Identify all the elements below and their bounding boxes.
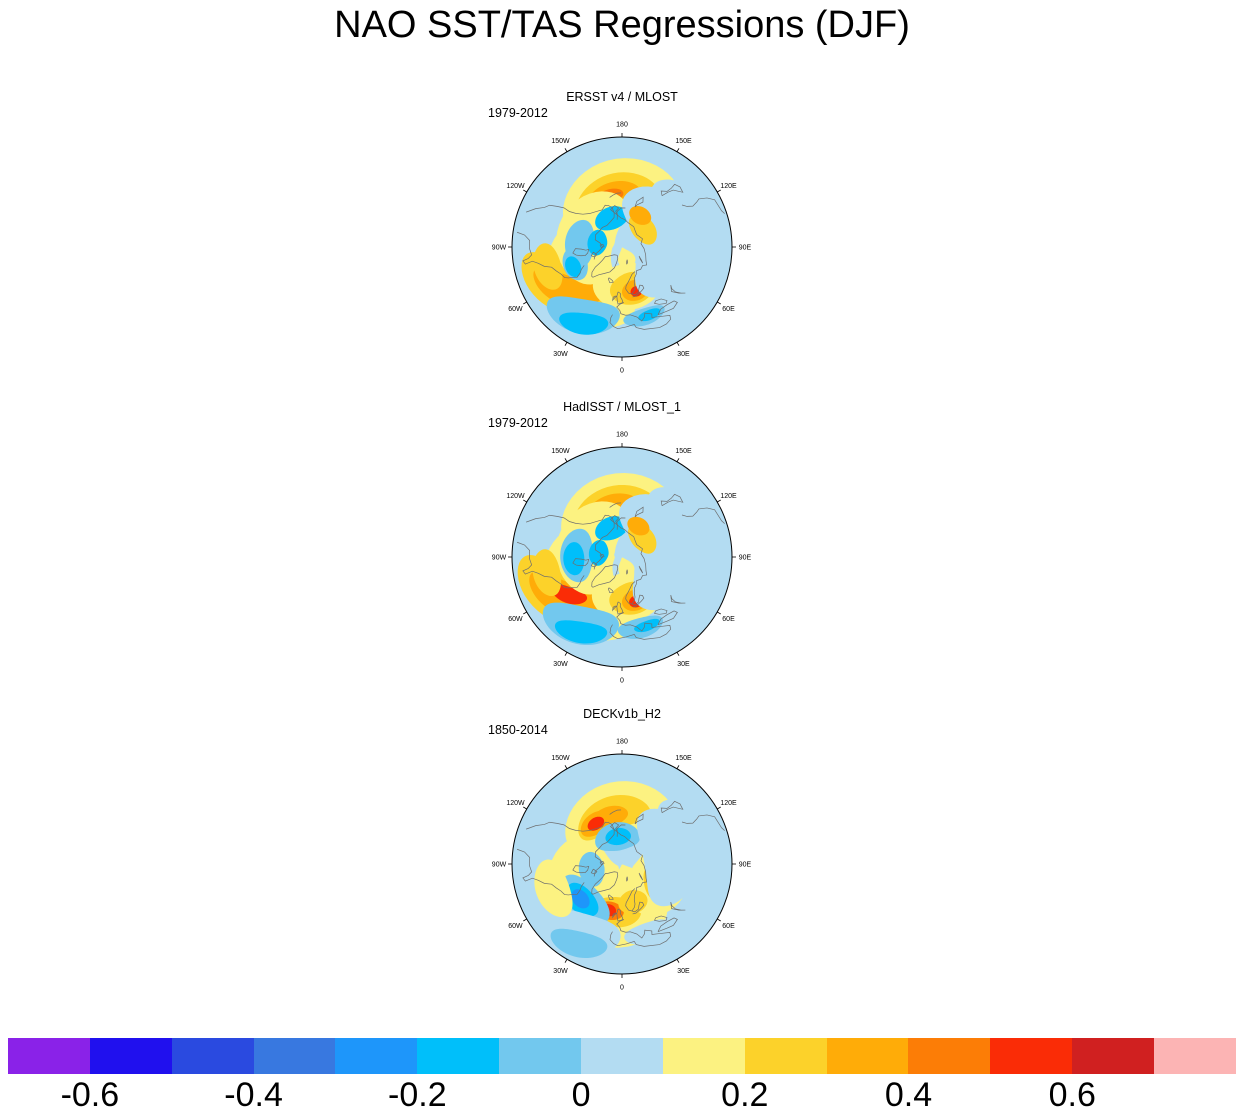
meridian-label: 30W xyxy=(553,968,568,975)
meridian-tick xyxy=(565,342,567,345)
meridian-tick xyxy=(677,458,679,461)
meridian-tick xyxy=(717,302,720,304)
meridian-label: 150E xyxy=(675,138,692,145)
colorbar-tick-label: 0.6 xyxy=(1049,1074,1096,1116)
meridian-label: 30E xyxy=(677,968,690,975)
meridian-tick xyxy=(677,342,679,345)
meridian-tick xyxy=(677,765,679,768)
colorbar-tick-labels: -0.6-0.4-0.200.20.40.6 xyxy=(0,1074,1244,1116)
meridian-label: 30W xyxy=(553,351,568,358)
meridian-tick xyxy=(677,959,679,962)
meridian-tick xyxy=(717,500,720,502)
meridian-label: 90W xyxy=(492,555,507,562)
figure-title: NAO SST/TAS Regressions (DJF) xyxy=(0,4,1244,47)
colorbar-swatch xyxy=(745,1038,827,1074)
meridian-label: 150W xyxy=(551,138,570,145)
meridian-label: 60W xyxy=(508,923,523,930)
meridian-label: 180 xyxy=(616,122,628,129)
meridian-label: 60E xyxy=(722,616,735,623)
meridian-label: 150E xyxy=(675,755,692,762)
meridian-tick xyxy=(677,148,679,151)
colorbar-tick-label: 0 xyxy=(572,1074,591,1116)
colorbar-swatch xyxy=(827,1038,909,1074)
meridian-label: 120E xyxy=(720,800,737,807)
meridian-label: 120W xyxy=(506,493,525,500)
colorbar-swatch xyxy=(417,1038,499,1074)
meridian-tick xyxy=(717,807,720,809)
figure-canvas: NAO SST/TAS Regressions (DJF) ERSST v4 /… xyxy=(0,0,1244,1116)
colorbar-tick-label: 0.2 xyxy=(721,1074,768,1116)
meridian-label: 30E xyxy=(677,351,690,358)
meridian-label: 60W xyxy=(508,306,523,313)
meridian-tick xyxy=(523,190,526,192)
colorbar-swatch xyxy=(1072,1038,1154,1074)
map-data-layer xyxy=(512,447,732,667)
meridian-label: 120W xyxy=(506,183,525,190)
colorbar-swatch xyxy=(335,1038,417,1074)
colorbar-swatch xyxy=(8,1038,90,1074)
meridian-tick xyxy=(717,190,720,192)
meridian-label: 90W xyxy=(492,245,507,252)
polar-map: 180150E120E90E60E30E030W60W90W120W150W xyxy=(472,412,772,697)
meridian-tick xyxy=(565,959,567,962)
meridian-label: 60E xyxy=(722,923,735,930)
polar-stereographic-plot: 180150E120E90E60E30E030W60W90W120W150W xyxy=(472,412,772,697)
meridian-tick xyxy=(523,500,526,502)
meridian-label: 120E xyxy=(720,183,737,190)
meridian-label: 0 xyxy=(620,985,624,992)
colorbar-swatch xyxy=(254,1038,336,1074)
meridian-label: 90W xyxy=(492,862,507,869)
meridian-tick xyxy=(677,652,679,655)
colorbar-tick-label: 0.4 xyxy=(885,1074,932,1116)
polar-stereographic-plot: 180150E120E90E60E30E030W60W90W120W150W xyxy=(472,102,772,387)
polar-stereographic-plot: 180150E120E90E60E30E030W60W90W120W150W xyxy=(472,719,772,1004)
colorbar-swatch xyxy=(172,1038,254,1074)
colorbar-swatch xyxy=(581,1038,663,1074)
polar-map: 180150E120E90E60E30E030W60W90W120W150W xyxy=(472,102,772,387)
meridian-label: 30W xyxy=(553,661,568,668)
meridian-label: 90E xyxy=(739,245,752,252)
meridian-tick xyxy=(523,612,526,614)
meridian-label: 0 xyxy=(620,368,624,375)
meridian-tick xyxy=(565,458,567,461)
colorbar-tick-label: -0.4 xyxy=(224,1074,283,1116)
meridian-tick xyxy=(565,652,567,655)
colorbar-swatch xyxy=(663,1038,745,1074)
meridian-label: 90E xyxy=(739,555,752,562)
meridian-label: 0 xyxy=(620,678,624,685)
colorbar-tick-label: -0.2 xyxy=(388,1074,447,1116)
colorbar-tick-label: -0.6 xyxy=(61,1074,120,1116)
meridian-label: 150E xyxy=(675,448,692,455)
meridian-label: 180 xyxy=(616,739,628,746)
map-data-layer xyxy=(512,137,732,357)
meridian-label: 120E xyxy=(720,493,737,500)
meridian-label: 60E xyxy=(722,306,735,313)
meridian-tick xyxy=(717,612,720,614)
meridian-tick xyxy=(523,807,526,809)
meridian-tick xyxy=(565,148,567,151)
polar-map: 180150E120E90E60E30E030W60W90W120W150W xyxy=(472,719,772,1004)
meridian-label: 120W xyxy=(506,800,525,807)
meridian-label: 60W xyxy=(508,616,523,623)
colorbar-swatch xyxy=(990,1038,1072,1074)
colorbar-swatch xyxy=(499,1038,581,1074)
meridian-tick xyxy=(523,302,526,304)
colorbar-swatch xyxy=(908,1038,990,1074)
colorbar xyxy=(8,1038,1236,1074)
colorbar-swatch xyxy=(1154,1038,1236,1074)
meridian-label: 90E xyxy=(739,862,752,869)
meridian-tick xyxy=(523,919,526,921)
colorbar-swatch xyxy=(90,1038,172,1074)
meridian-label: 150W xyxy=(551,755,570,762)
meridian-label: 150W xyxy=(551,448,570,455)
meridian-tick xyxy=(717,919,720,921)
meridian-label: 30E xyxy=(677,661,690,668)
meridian-tick xyxy=(565,765,567,768)
meridian-label: 180 xyxy=(616,432,628,439)
map-data-layer xyxy=(512,754,732,974)
